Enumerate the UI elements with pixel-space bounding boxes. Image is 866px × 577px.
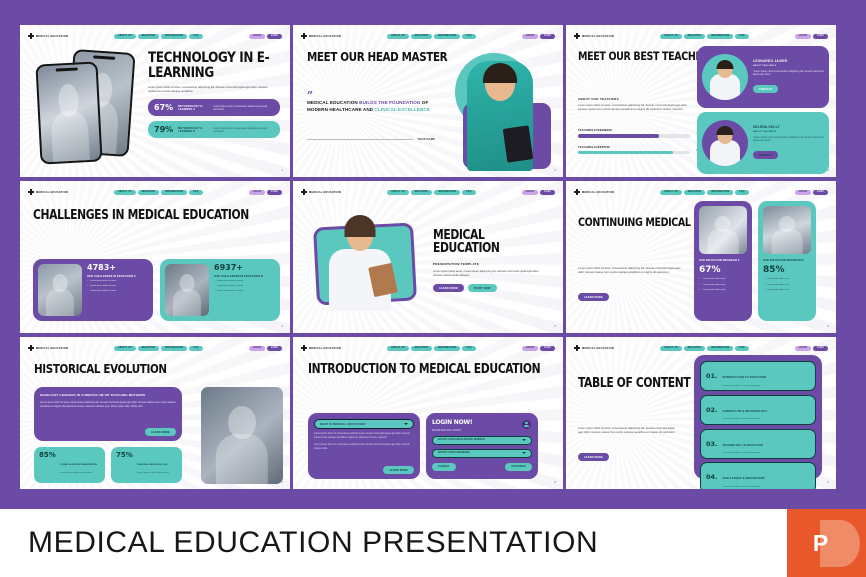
header-buttons[interactable]: LOGIN CHAT (249, 190, 282, 195)
mini-stat-b: 75% TEACHING METHODS 2030 Lorem ipsum si… (111, 447, 182, 483)
nav-item-register[interactable]: REGISTER (138, 34, 159, 39)
list-item: ✓Lorem ipsum dolor amet (699, 278, 747, 281)
nav-item-about[interactable]: ABOUT US (387, 190, 409, 195)
slide-title: INTRODUCTION TO MEDICAL EDUCATION (308, 363, 540, 376)
chevron-down-icon (522, 452, 526, 454)
slide-header: MEDICAL EDUCATION ABOUT US REGISTER INFO… (301, 31, 555, 41)
nav-item-register[interactable]: REGISTER (684, 34, 705, 39)
bar-label-expertise: TEACHERS EXPERTISE (578, 146, 690, 149)
brand-logo: MEDICAL EDUCATION (28, 345, 68, 351)
login-button[interactable]: LOGIN (522, 34, 538, 39)
login-button[interactable]: LOGIN (795, 190, 811, 195)
quote-part-4: CLINICAL EXCELLENCE (375, 107, 430, 112)
slide-title: TABLE OF CONTENT (578, 377, 690, 390)
medical-cross-icon (28, 33, 34, 39)
email-field-placeholder: ENTER YOUR EMAIL/PHONE NUMBER (438, 439, 485, 441)
page-number: 8 (555, 481, 556, 484)
slide-grid: MEDICAL EDUCATION ABOUT US REGISTER INFO… (20, 25, 848, 493)
skill-bars: TEACHERS EXPERIENCE 72% TEACHERS EXPERTI… (578, 129, 690, 154)
slide-nav[interactable]: ABOUT US REGISTER INFORMATION FAQ (114, 34, 203, 39)
brand-name: MEDICAL EDUCATION (309, 35, 341, 38)
nav-item-register[interactable]: REGISTER (411, 190, 432, 195)
slide-title: HISTORICAL EVOLUTION (34, 363, 167, 376)
login-subtitle: REGISTER OR LOGIN? (432, 429, 532, 432)
teacher-card-b[interactable]: SELENA KELLY ABOUT TEACHER B "Lorem ipsu… (697, 112, 829, 174)
nav-item-information[interactable]: INFORMATION (707, 34, 733, 39)
slide-nav[interactable]: ABOUT US REGISTER INFORMATION FAQ (660, 34, 749, 39)
teacher-quote-b: "Lorem ipsum dolor consectetuer adipisci… (753, 136, 824, 143)
nav-item-information[interactable]: INFORMATION (434, 34, 460, 39)
toc-desc-1: Lorem ipsum dolor sit amet consectetuer. (723, 385, 767, 388)
header-buttons[interactable]: LOGIN CHAT (795, 34, 828, 39)
quote-part-1: MEDICAL EDUCATION (307, 100, 359, 105)
cta-group[interactable]: LEARN MORE START NOW (433, 284, 553, 292)
nav-item-about[interactable]: ABOUT US (660, 190, 682, 195)
nav-item-register[interactable]: REGISTER (138, 190, 159, 195)
list-item: ✓Lorem ipsum dolor amet (763, 284, 811, 287)
about-heading: ABOUT OUR TEACHERS (578, 97, 690, 101)
highlight-body: Lorem ipsum dolor sit amet, consectetuer… (40, 401, 176, 408)
toc-panel: 01. INTRODUCTION TO EDUCATION Lorem ipsu… (694, 355, 822, 479)
signature-rule (307, 139, 413, 140)
list-item: ✓Lorem ipsum dolor amet (699, 284, 747, 287)
nav-item-register[interactable]: REGISTER (138, 346, 159, 351)
page-number: 1 (282, 169, 283, 172)
mini-text-b: Lorem ipsum sit dolor consectetuer. (137, 472, 170, 475)
bottom-banner: MEDICAL EDUCATION PRESENTATION P (0, 509, 866, 577)
header-buttons[interactable]: LOGIN CHAT (249, 346, 282, 351)
nav-item-about[interactable]: ABOUT US (387, 34, 409, 39)
list-item: •Lorem ipsum dolor sit amet (214, 285, 275, 288)
slide-meet-our-best-teacher[interactable]: MEDICAL EDUCATION ABOUT US REGISTER INFO… (566, 25, 836, 177)
brand-name: MEDICAL EDUCATION (582, 191, 614, 194)
toc-item-3[interactable]: 03. TECHNOLOGY IN EDUCATION Lorem ipsum … (700, 429, 816, 459)
learn-more-button[interactable]: LEARN MORE (578, 293, 609, 301)
slide-header: MEDICAL EDUCATION ABOUT US REGISTER INFO… (301, 343, 555, 353)
avatar (702, 54, 748, 100)
brand-logo: MEDICAL EDUCATION (301, 33, 341, 39)
mini-label-b: TEACHING METHODS 2030 (137, 464, 168, 466)
chat-button[interactable]: CHAT (540, 34, 555, 39)
learn-more-button[interactable]: LEARN MORE (578, 453, 609, 461)
slide-historical-evolution[interactable]: MEDICAL EDUCATION ABOUT US REGISTER INFO… (20, 337, 290, 489)
mini-value-b: 75% (116, 452, 133, 459)
toc-heading-4: CHALLENGES & INNOVATIONS (723, 477, 765, 480)
slide-header: MEDICAL EDUCATION ABOUT US REGISTER INFO… (28, 187, 282, 197)
brand-name: MEDICAL EDUCATION (36, 347, 68, 350)
login-button[interactable]: LOGIN (522, 346, 538, 351)
quote-part-2: BUILDS THE FOUNDATION (359, 100, 422, 105)
powerpoint-letter: P (813, 530, 828, 557)
brand-logo: MEDICAL EDUCATION (28, 189, 68, 195)
brand-name: MEDICAL EDUCATION (309, 191, 341, 194)
list-item: ✓Lorem ipsum dolor amet (763, 278, 811, 281)
header-buttons[interactable]: LOGIN CHAT (795, 346, 828, 351)
highlight-heading: HIGHLIGHT CHANGES IN CURRICULUM OR TEACH… (40, 393, 176, 397)
challenge-card-b: 6937+ OUR CHALLENGES IN EDUCATION B •Lor… (160, 259, 280, 321)
slide-title: MEET OUR BEST TEACHER (578, 51, 709, 63)
program-photo-a (699, 206, 747, 254)
medical-cross-icon (574, 33, 580, 39)
brand-logo: MEDICAL EDUCATION (301, 189, 341, 195)
toc-heading-2: CURRICULUM & METHODOLOGY (723, 410, 768, 413)
stat-row-a: 67% METHODOLOGY E-LEARNING A Lorem ipsum… (148, 99, 280, 116)
mini-label-a: CURRICULUM IMPLEMENTATION (60, 464, 97, 466)
list-item: ✓Lorem ipsum dolor amet (699, 289, 747, 292)
login-card: LOGIN NOW! REGISTER OR LOGIN? ENTER YOUR… (426, 413, 538, 479)
nav-item-information[interactable]: INFORMATION (707, 346, 733, 351)
medical-cross-icon (28, 345, 34, 351)
slide-body: Lorem ipsum dolor sit amet, consectetuer… (148, 86, 275, 94)
slide-nav[interactable]: ABOUT US REGISTER INFORMATION FAQ (387, 190, 476, 195)
password-field-placeholder: ENTER YOUR PASSWORD (438, 452, 470, 454)
nav-item-about[interactable]: ABOUT US (114, 346, 136, 351)
toc-desc-4: Lorem ipsum dolor sit amet consectetuer. (723, 486, 765, 489)
quote-mark-icon: „ (307, 87, 313, 94)
toc-item-1[interactable]: 01. INTRODUCTION TO EDUCATION Lorem ipsu… (700, 361, 816, 391)
bar-track-experience: 72% (578, 134, 690, 138)
nav-item-faq[interactable]: FAQ (189, 34, 202, 39)
stat-value-a: 67% (154, 103, 173, 112)
accordion-paragraph-2: Lorem ipsum dolor sit consectetuer adipi… (314, 444, 414, 451)
challenge-card-a: 4783+ OUR CHALLENGES IN EDUCATION A •Lor… (33, 259, 153, 321)
start-now-button[interactable]: START NOW (468, 284, 497, 292)
challenge-photo-a (38, 264, 82, 316)
nav-item-information[interactable]: INFORMATION (161, 34, 187, 39)
presentation-preview: MEDICAL EDUCATION ABOUT US REGISTER INFO… (0, 0, 866, 577)
medical-cross-icon (301, 345, 307, 351)
slide-continuing-medical-education[interactable]: MEDICAL EDUCATION ABOUT US REGISTER INFO… (566, 181, 836, 333)
page-number: 5 (555, 325, 556, 328)
toc-heading-1: INTRODUCTION TO EDUCATION (723, 376, 767, 379)
login-button[interactable]: LOGIN (249, 190, 265, 195)
chevron-down-icon (404, 423, 408, 425)
nav-item-faq[interactable]: FAQ (462, 34, 475, 39)
teacher-role-b: ABOUT TEACHER B (753, 131, 824, 133)
chat-button[interactable]: CHAT (540, 190, 555, 195)
nav-item-about[interactable]: ABOUT US (660, 346, 682, 351)
email-field[interactable]: ENTER YOUR EMAIL/PHONE NUMBER (432, 436, 532, 445)
teacher-name-a: LEONARDO JAVIER (753, 59, 824, 63)
teacher-card-a[interactable]: LEONARDO JAVIER ABOUT TEACHER A "Lorem i… (697, 46, 829, 108)
stat-desc-a: Lorem ipsum dolor consectetuer adipiscin… (213, 105, 274, 112)
header-buttons[interactable]: LOGIN CHAT (522, 34, 555, 39)
slide-header: MEDICAL EDUCATION ABOUT US REGISTER INFO… (574, 187, 828, 197)
brand-logo: MEDICAL EDUCATION (574, 189, 614, 195)
highlight-card: HIGHLIGHT CHANGES IN CURRICULUM OR TEACH… (34, 387, 182, 441)
header-buttons[interactable]: LOGIN CHAT (522, 346, 555, 351)
nav-item-faq[interactable]: FAQ (735, 34, 748, 39)
about-body: Lorem ipsum dolor sit amet, consectetuer… (578, 104, 690, 112)
nav-item-information[interactable]: INFORMATION (161, 190, 187, 195)
banner-title: MEDICAL EDUCATION PRESENTATION (28, 526, 598, 560)
toc-number-4: 04. (706, 474, 718, 481)
cancel-button[interactable]: CANCEL (432, 463, 456, 471)
chat-button[interactable]: CHAT (267, 190, 282, 195)
chat-button[interactable]: CHAT (267, 34, 282, 39)
brand-name: MEDICAL EDUCATION (36, 191, 68, 194)
nav-item-about[interactable]: ABOUT US (660, 34, 682, 39)
list-item: •Lorem ipsum dolor sit amet (214, 280, 275, 283)
page-number: 3 (828, 169, 829, 172)
brand-name: MEDICAL EDUCATION (582, 347, 614, 350)
nav-item-information[interactable]: INFORMATION (434, 346, 460, 351)
nav-item-faq[interactable]: FAQ (462, 190, 475, 195)
mini-stat-a: 85% CURRICULUM IMPLEMENTATION Lorem ipsu… (34, 447, 105, 483)
slide-nav[interactable]: ABOUT US REGISTER INFORMATION FAQ (660, 190, 749, 195)
nav-item-faq[interactable]: FAQ (462, 346, 475, 351)
list-item: •Lorem ipsum dolor sit amet (87, 290, 148, 293)
login-button[interactable]: LOGIN (522, 190, 538, 195)
brand-logo: MEDICAL EDUCATION (28, 33, 68, 39)
slide-nav[interactable]: ABOUT US REGISTER INFORMATION FAQ (387, 34, 476, 39)
skill-bar-expertise: TEACHERS EXPERTISE 85% (578, 146, 690, 155)
slide-nav[interactable]: ABOUT US REGISTER INFORMATION FAQ (114, 190, 203, 195)
program-card-a: OUR EDUCATION PROGRAM A 67% ✓Lorem ipsum… (694, 201, 752, 321)
stat-row-b: 79% METHODOLOGY E-LEARNING B Lorem ipsum… (148, 121, 280, 138)
medical-cross-icon (28, 189, 34, 195)
bar-track-expertise: 85% (578, 151, 690, 155)
nav-item-register[interactable]: REGISTER (411, 34, 432, 39)
contact-button-a[interactable]: CONTACT (753, 85, 778, 93)
slide-title: TECHNOLOGY IN E-LEARNING (148, 51, 269, 80)
mini-value-a: 85% (39, 452, 56, 459)
slide-title: MEET OUR HEAD MASTER (307, 51, 447, 64)
challenge-label-b: OUR CHALLENGES IN EDUCATION B (214, 275, 275, 278)
teacher-name-b: SELENA KELLY (753, 125, 824, 129)
accordion-paragraph-1: Lorem ipsum dolor sit consectetuer adipi… (314, 433, 414, 440)
nav-item-faq[interactable]: FAQ (735, 346, 748, 351)
slide-title: CHALLENGES IN MEDICAL EDUCATION (33, 209, 249, 222)
toc-heading-3: TECHNOLOGY IN EDUCATION (723, 444, 764, 447)
program-value-a: 67% (699, 266, 747, 275)
header-buttons[interactable]: LOGIN CHAT (522, 190, 555, 195)
user-icon[interactable] (522, 420, 531, 429)
slide-challenges-in-medical-education[interactable]: MEDICAL EDUCATION ABOUT US REGISTER INFO… (20, 181, 290, 333)
learn-more-button[interactable]: LEARN MORE (145, 428, 176, 436)
teacher-quote-a: "Lorem ipsum dolor consectetuer adipisci… (753, 70, 824, 77)
doctor-figure (323, 207, 397, 311)
phone-mockup-group (34, 49, 142, 161)
toc-number-1: 01. (706, 373, 718, 380)
nav-item-about[interactable]: ABOUT US (114, 190, 136, 195)
accordion-label: WHAT IS MEDICAL EDUCATION? (320, 423, 366, 426)
slide-nav[interactable]: ABOUT US REGISTER INFORMATION FAQ (114, 346, 203, 351)
faq-card: WHAT IS MEDICAL EDUCATION? Lorem ipsum d… (308, 413, 420, 479)
nav-item-register[interactable]: REGISTER (684, 190, 705, 195)
medical-cross-icon (574, 345, 580, 351)
medical-cross-icon (574, 189, 580, 195)
brand-name: MEDICAL EDUCATION (309, 347, 341, 350)
brand-logo: MEDICAL EDUCATION (574, 33, 614, 39)
stat-desc-b: Lorem ipsum dolor consectetuer adipiscin… (213, 127, 274, 134)
history-photo (201, 387, 283, 484)
list-item: •Lorem ipsum dolor sit amet (87, 280, 148, 283)
stat-value-b: 79% (154, 125, 173, 134)
signature-name: YOUR NAME (417, 138, 435, 141)
contact-button-b[interactable]: CONTACT (753, 151, 778, 159)
login-button[interactable]: LOGIN (249, 346, 265, 351)
learn-more-button[interactable]: LEARN MORE (383, 466, 414, 474)
page-number: 2 (555, 169, 556, 172)
powerpoint-icon: P (787, 509, 866, 577)
medical-cross-icon (301, 189, 307, 195)
list-item: ✓Lorem ipsum dolor amet (763, 289, 811, 292)
login-title: LOGIN NOW! (432, 419, 532, 426)
page-number: 7 (282, 481, 283, 484)
slide-medical-education-cover[interactable]: MEDICAL EDUCATION ABOUT US REGISTER INFO… (293, 181, 563, 333)
chat-button[interactable]: CHAT (813, 34, 828, 39)
toc-number-2: 02. (706, 407, 718, 414)
medical-cross-icon (301, 33, 307, 39)
about-block: ABOUT OUR TEACHERS Lorem ipsum dolor sit… (578, 97, 690, 112)
teacher-role-a: ABOUT TEACHER A (753, 65, 824, 67)
continue-button[interactable]: CONTINUE (505, 463, 532, 471)
skill-bar-experience: TEACHERS EXPERIENCE 72% (578, 129, 690, 138)
list-item: •Lorem ipsum dolor sit amet (214, 290, 275, 293)
pull-quote: MEDICAL EDUCATION BUILDS THE FOUNDATION … (307, 99, 437, 113)
login-actions[interactable]: CANCEL CONTINUE (432, 463, 532, 471)
toc-item-4[interactable]: 04. CHALLENGES & INNOVATIONS Lorem ipsum… (700, 462, 816, 489)
program-label-b: OUR EDUCATION PROGRAM B (763, 259, 811, 262)
slide-body: Lorem ipsum dolor sit amet, consectetuer… (578, 267, 682, 275)
phone-front (35, 61, 102, 164)
page-number: 9 (828, 481, 829, 484)
slide-header: MEDICAL EDUCATION ABOUT US REGISTER INFO… (301, 187, 555, 197)
slide-body: Lorem ipsum dolor sit amet, consectetuer… (578, 427, 678, 435)
accordion-toggle[interactable]: WHAT IS MEDICAL EDUCATION? (314, 419, 414, 429)
avatar (702, 120, 748, 166)
program-card-b: OUR EDUCATION PROGRAM B 85% ✓Lorem ipsum… (758, 201, 816, 321)
chevron-down-icon (522, 439, 526, 441)
bar-label-experience: TEACHERS EXPERIENCE (578, 129, 690, 132)
brand-logo: MEDICAL EDUCATION (574, 345, 614, 351)
program-photo-b (763, 206, 811, 254)
slide-kicker: PRESENTATION TEMPLATE (433, 262, 553, 266)
nav-item-about[interactable]: ABOUT US (114, 34, 136, 39)
login-button[interactable]: LOGIN (249, 34, 265, 39)
learn-more-button[interactable]: LEARN MORE (433, 284, 464, 292)
login-button[interactable]: LOGIN (795, 346, 811, 351)
brand-logo: MEDICAL EDUCATION (301, 345, 341, 351)
nav-item-faq[interactable]: FAQ (735, 190, 748, 195)
header-buttons[interactable]: LOGIN CHAT (249, 34, 282, 39)
slide-introduction-to-medical-education[interactable]: MEDICAL EDUCATION ABOUT US REGISTER INFO… (293, 337, 563, 489)
nav-item-information[interactable]: INFORMATION (161, 346, 187, 351)
slide-header: MEDICAL EDUCATION ABOUT US REGISTER INFO… (28, 31, 282, 41)
chat-button[interactable]: CHAT (813, 346, 828, 351)
slide-header: MEDICAL EDUCATION ABOUT US REGISTER INFO… (574, 343, 828, 353)
slide-header: MEDICAL EDUCATION ABOUT US REGISTER INFO… (574, 31, 828, 41)
brand-name: MEDICAL EDUCATION (582, 35, 614, 38)
mini-text-a: Lorem ipsum sit dolor consectetuer. (60, 472, 97, 475)
nav-item-faq[interactable]: FAQ (189, 346, 202, 351)
list-item: •Lorem ipsum dolor sit amet (87, 285, 148, 288)
program-label-a: OUR EDUCATION PROGRAM A (699, 259, 747, 262)
slide-nav[interactable]: ABOUT US REGISTER INFORMATION FAQ (660, 346, 749, 351)
slide-title: MEDICAL EDUCATION (433, 229, 543, 255)
challenge-count-a: 4783+ (87, 264, 148, 272)
toc-desc-3: Lorem ipsum dolor sit amet consectetuer. (723, 452, 764, 455)
signature: YOUR NAME (307, 138, 435, 141)
slide-body: Lorem ipsum dolor amet, consectetuer adi… (433, 270, 543, 278)
challenge-count-b: 6937+ (214, 264, 275, 272)
page-number: 4 (282, 325, 283, 328)
challenge-label-a: OUR CHALLENGES IN EDUCATION A (87, 275, 148, 278)
brand-name: MEDICAL EDUCATION (36, 35, 68, 38)
headmaster-figure (467, 61, 533, 171)
password-field[interactable]: ENTER YOUR PASSWORD (432, 449, 532, 458)
chat-button[interactable]: CHAT (267, 346, 282, 351)
slide-nav[interactable]: ABOUT US REGISTER INFORMATION FAQ (387, 346, 476, 351)
nav-item-register[interactable]: REGISTER (684, 346, 705, 351)
slide-header: MEDICAL EDUCATION ABOUT US REGISTER INFO… (28, 343, 282, 353)
slide-table-of-content[interactable]: MEDICAL EDUCATION ABOUT US REGISTER INFO… (566, 337, 836, 489)
nav-item-information[interactable]: INFORMATION (707, 190, 733, 195)
page-number: 6 (828, 325, 829, 328)
toc-desc-2: Lorem ipsum dolor sit amet consectetuer. (723, 418, 768, 421)
slide-technology-in-elearning[interactable]: MEDICAL EDUCATION ABOUT US REGISTER INFO… (20, 25, 290, 177)
chat-button[interactable]: CHAT (540, 346, 555, 351)
challenge-photo-b (165, 264, 209, 316)
header-buttons[interactable]: LOGIN CHAT (795, 190, 828, 195)
toc-number-3: 03. (706, 441, 718, 448)
nav-item-faq[interactable]: FAQ (189, 190, 202, 195)
slide-meet-our-head-master[interactable]: MEDICAL EDUCATION ABOUT US REGISTER INFO… (293, 25, 563, 177)
nav-item-information[interactable]: INFORMATION (434, 190, 460, 195)
chat-button[interactable]: CHAT (813, 190, 828, 195)
stat-label-b: METHODOLOGY E-LEARNING B (178, 127, 208, 134)
headmaster-photo (441, 45, 559, 171)
program-value-b: 85% (763, 266, 811, 275)
toc-item-2[interactable]: 02. CURRICULUM & METHODOLOGY Lorem ipsum… (700, 395, 816, 425)
nav-item-register[interactable]: REGISTER (411, 346, 432, 351)
stat-label-a: METHODOLOGY E-LEARNING A (178, 105, 208, 112)
login-button[interactable]: LOGIN (795, 34, 811, 39)
nav-item-about[interactable]: ABOUT US (387, 346, 409, 351)
